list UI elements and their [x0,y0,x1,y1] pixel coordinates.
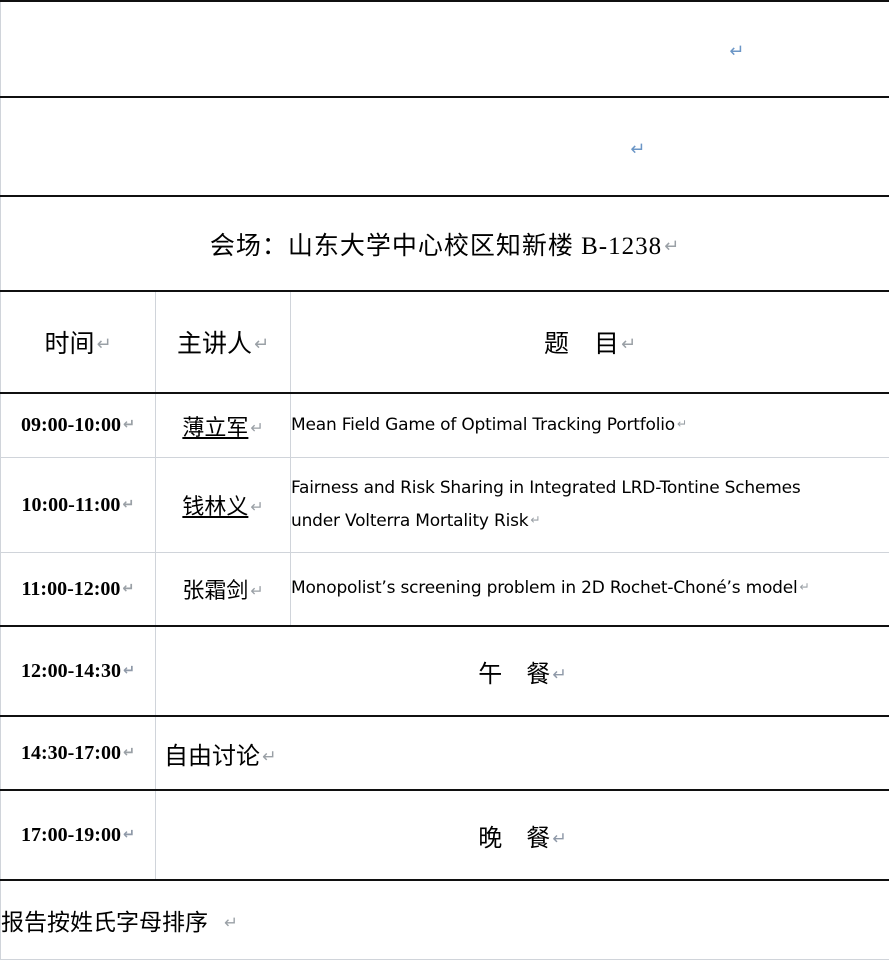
banner-row-arrival: 2025 年 11 月 29 日 报到2025 年 12 月 1 日 离会↵ [1,1,889,97]
discussion-time-label: 14:30-17:00 [21,742,121,764]
talk-time: 09:00-10:00↵ [1,393,156,458]
talk-title-text: Monopolist’s screening problem in 2D Roc… [291,578,798,598]
discussion-label-cell: 自由讨论↵ [156,716,889,790]
talk-title: Fairness and Risk Sharing in Integrated … [291,458,889,553]
paragraph-mark-icon: ↵ [248,581,263,600]
talk-title: Mean Field Game of Optimal Tracking Port… [291,393,889,458]
talk-time-label: 09:00-10:00 [21,414,121,436]
table-row: 10:00-11:00↵ 钱林义↵ Fairness and Risk Shar… [1,458,889,553]
paragraph-mark-icon: ↵ [619,334,636,355]
talk-speaker: 钱林义↵ [156,458,291,553]
banner-row-program-title: 2025 年 11 月 30 日 学术报告日程↵ [1,97,889,196]
paragraph-mark-icon: ↵ [121,663,135,679]
talk-time-label: 11:00-12:00 [22,578,121,600]
conference-schedule-table: 2025 年 11 月 29 日 报到2025 年 12 月 1 日 离会↵ 2… [0,0,889,960]
talk-speaker-name: 张霜剑 [182,578,248,603]
schedule-page: 2025 年 11 月 29 日 报到2025 年 12 月 1 日 离会↵ 2… [0,0,889,952]
talk-title-text-line1: Fairness and Risk Sharing in Integrated … [291,472,889,505]
talk-time: 11:00-12:00↵ [1,553,156,627]
venue-text: 会场：山东大学中心校区知新楼 B-1238 [210,233,662,260]
discussion-time: 14:30-17:00↵ [1,716,156,790]
column-header-time: 时间↵ [1,291,156,393]
lunch-row: 12:00-14:30↵ 午 餐↵ [1,626,889,716]
departure-date-text: 2025 年 12 月 1 日 离会 [459,38,727,65]
dinner-label: 晚 餐 [478,826,550,852]
paragraph-mark-icon: ↵ [662,236,680,257]
paragraph-mark-icon: ↵ [675,417,687,431]
paragraph-mark-icon: ↵ [248,497,263,516]
paragraph-mark-icon: ↵ [550,665,566,685]
venue-row: 会场：山东大学中心校区知新楼 B-1238↵ [1,196,889,291]
paragraph-mark-icon: ↵ [252,334,269,355]
paragraph-mark-icon: ↵ [248,418,263,437]
talk-speaker: 薄立军↵ [156,393,291,458]
column-header-row: 时间↵ 主讲人↵ 题 目↵ [1,291,889,393]
banner-arrival-cell: 2025 年 11 月 29 日 报到2025 年 12 月 1 日 离会↵ [1,1,889,97]
paragraph-mark-icon: ↵ [120,581,134,597]
table-row: 09:00-10:00↵ 薄立军↵ Mean Field Game of Opt… [1,393,889,458]
talk-speaker: 张霜剑↵ [156,553,291,627]
talk-title-text: Mean Field Game of Optimal Tracking Port… [291,415,675,435]
dinner-label-cell: 晚 餐↵ [156,790,889,880]
column-header-speaker-label: 主讲人 [177,331,252,358]
dinner-time-label: 17:00-19:00 [21,824,121,846]
footer-note-cell: 报告按姓氏字母排序↵ [1,880,889,960]
paragraph-mark-icon: ↵ [798,580,810,594]
footer-note-row: 报告按姓氏字母排序↵ [1,880,889,960]
column-header-title-label: 题 目 [544,331,619,358]
column-header-speaker: 主讲人↵ [156,291,291,393]
paragraph-mark-icon: ↵ [727,41,745,62]
venue-cell: 会场：山东大学中心校区知新楼 B-1238↵ [1,196,889,291]
paragraph-mark-icon: ↵ [121,417,135,433]
discussion-row: 14:30-17:00↵ 自由讨论↵ [1,716,889,790]
paragraph-mark-icon: ↵ [222,913,238,932]
column-header-time-label: 时间 [44,331,94,358]
lunch-time-label: 12:00-14:30 [21,660,121,682]
dinner-row: 17:00-19:00↵ 晚 餐↵ [1,790,889,880]
banner-program-title-cell: 2025 年 11 月 30 日 学术报告日程↵ [1,97,889,196]
arrival-date-text: 2025 年 11 月 29 日 报到 [145,38,426,65]
lunch-label-cell: 午 餐↵ [156,626,889,716]
talk-title: Monopolist’s screening problem in 2D Roc… [291,553,889,627]
talk-time-label: 10:00-11:00 [22,494,121,516]
paragraph-mark-icon: ↵ [94,334,111,355]
table-row: 11:00-12:00↵ 张霜剑↵ Monopolist’s screening… [1,553,889,627]
dinner-time: 17:00-19:00↵ [1,790,156,880]
lunch-label: 午 餐 [478,662,550,688]
paragraph-mark-icon: ↵ [120,497,134,513]
paragraph-mark-icon: ↵ [121,745,135,761]
lunch-time: 12:00-14:30↵ [1,626,156,716]
paragraph-mark-icon: ↵ [550,829,566,849]
talk-title-text-line2: under Volterra Mortality Risk [291,511,528,531]
discussion-label: 自由讨论 [164,744,260,770]
talk-time: 10:00-11:00↵ [1,458,156,553]
paragraph-mark-icon: ↵ [528,513,540,527]
paragraph-mark-icon: ↵ [628,139,646,160]
program-title-text: 2025 年 11 月 30 日 学术报告日程 [244,136,629,163]
paragraph-mark-icon: ↵ [260,747,276,767]
talk-title-line2-wrap: under Volterra Mortality Risk↵ [291,505,889,538]
footer-note-text: 报告按姓氏字母排序 [1,910,208,935]
column-header-title: 题 目↵ [291,291,889,393]
paragraph-mark-icon: ↵ [121,827,135,843]
talk-speaker-name: 钱林义 [182,494,248,519]
talk-speaker-name: 薄立军 [182,415,248,440]
